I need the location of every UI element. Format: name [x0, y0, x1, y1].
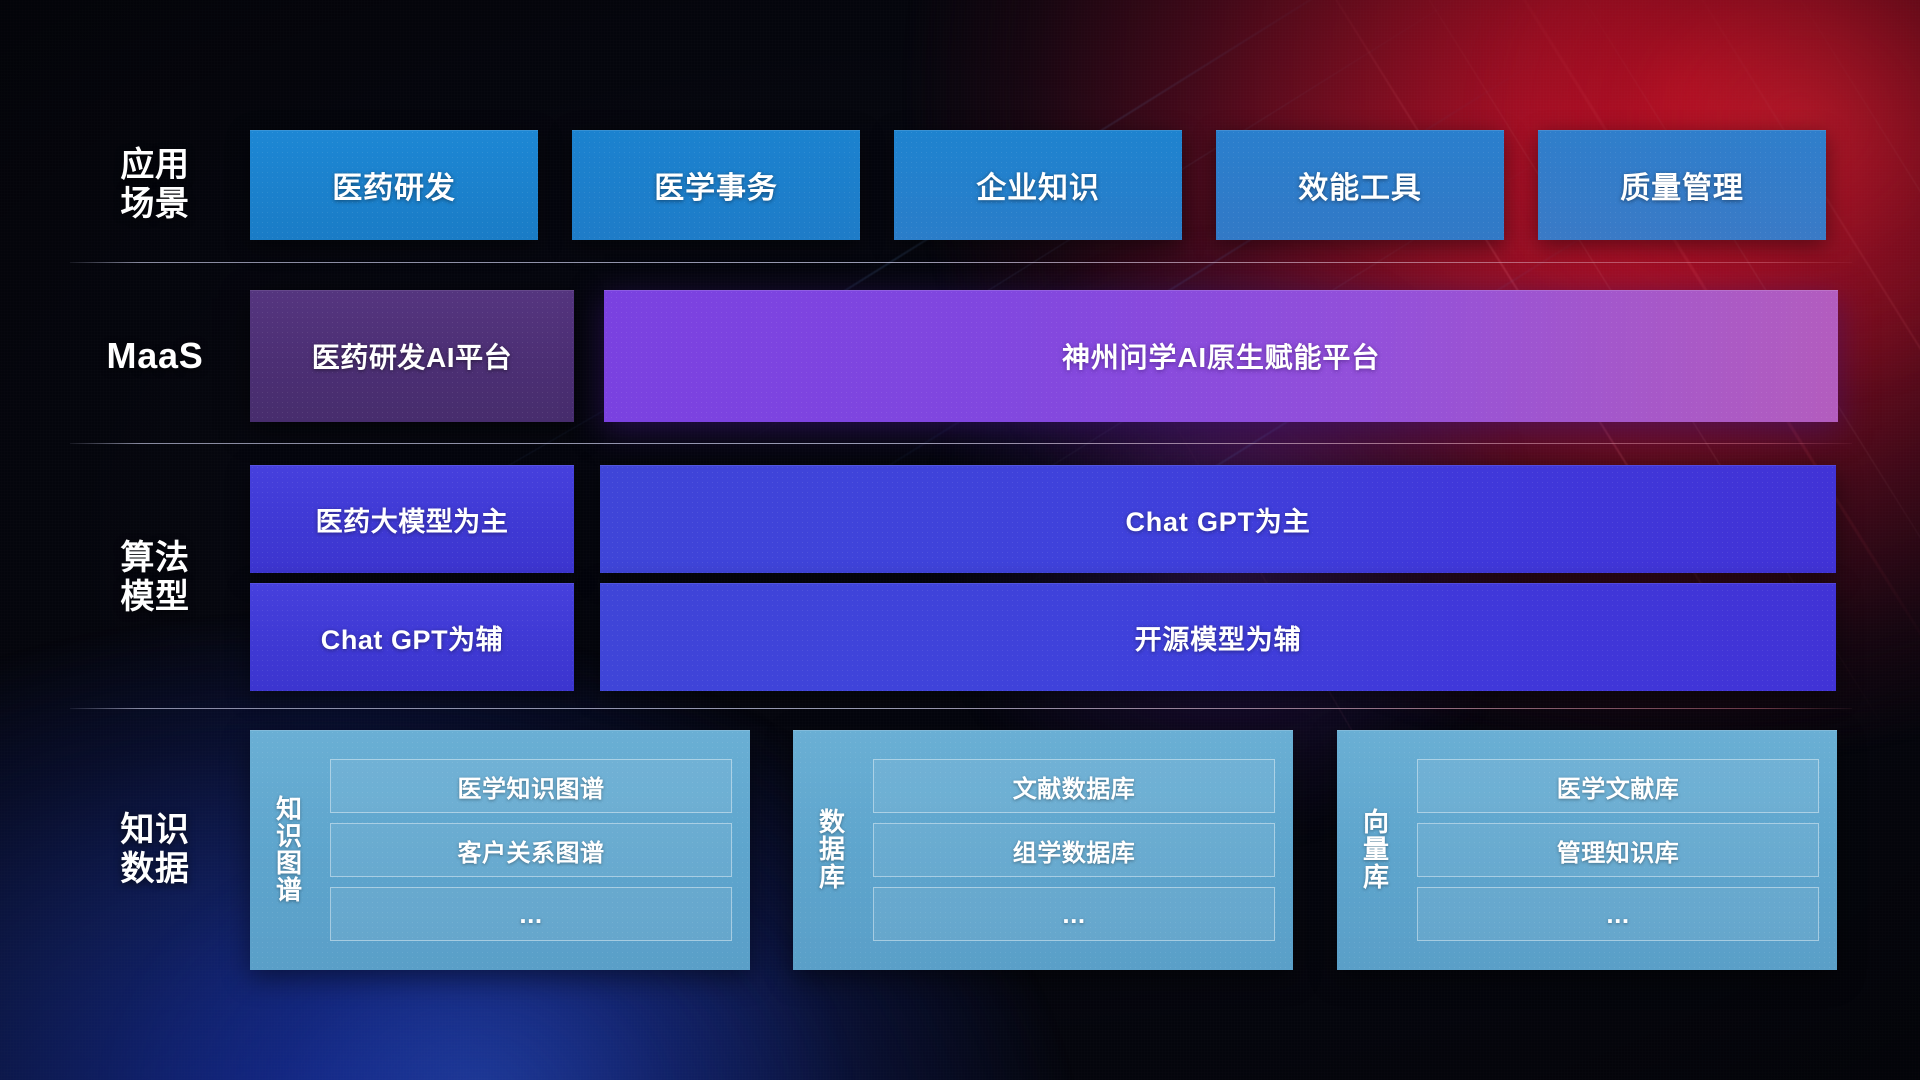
- row-divider-3: [70, 708, 1852, 709]
- row-label-application-line2: 场景: [120, 185, 189, 224]
- app-scenario-card-5[interactable]: 质量管理: [1538, 130, 1826, 240]
- app-scenario-card-1-label: 医药研发: [332, 163, 456, 207]
- row-label-algorithm: 算法 模型: [70, 465, 240, 691]
- knowledge-panel-3-item-3[interactable]: ...: [1417, 887, 1819, 941]
- knowledge-panel-1-item-3-label: ...: [519, 899, 542, 930]
- algorithm-right-card-2-label: 开源模型为辅: [1135, 618, 1302, 657]
- knowledge-panel-2-item-2-label: 组学数据库: [1013, 833, 1135, 868]
- app-scenario-card-4[interactable]: 效能工具: [1216, 130, 1504, 240]
- row-divider-1: [70, 262, 1852, 263]
- row-label-algorithm-line2: 模型: [120, 578, 189, 617]
- knowledge-panel-2-side-label: 数据库: [793, 730, 871, 970]
- maas-left-card[interactable]: 医药研发AI平台: [250, 290, 574, 422]
- app-scenario-card-3-label: 企业知识: [976, 163, 1100, 207]
- app-scenario-card-4-label: 效能工具: [1298, 163, 1422, 207]
- knowledge-panel-1-side-label: 知识图谱: [250, 730, 328, 970]
- knowledge-panel-1-items: 医学知识图谱客户关系图谱...: [328, 745, 750, 955]
- side-label-char: 图: [276, 850, 302, 877]
- app-scenario-card-2[interactable]: 医学事务: [572, 130, 860, 240]
- maas-left-card-label: 医药研发AI平台: [312, 336, 512, 376]
- algorithm-left-card-2-label: Chat GPT为辅: [321, 618, 503, 657]
- app-scenario-card-3[interactable]: 企业知识: [894, 130, 1182, 240]
- knowledge-panel-3-item-2-label: 管理知识库: [1557, 833, 1679, 868]
- maas-right-card-label: 神州问学AI原生赋能平台: [1062, 336, 1380, 376]
- maas-right-card[interactable]: 神州问学AI原生赋能平台: [604, 290, 1838, 422]
- side-label-char: 量: [1363, 836, 1389, 863]
- knowledge-panel-3-side-label-text: 向量库: [1363, 809, 1389, 890]
- knowledge-panel-2-item-1[interactable]: 文献数据库: [873, 759, 1275, 813]
- knowledge-panel-3-item-3-label: ...: [1606, 899, 1629, 930]
- knowledge-panel-1-item-3[interactable]: ...: [330, 887, 732, 941]
- algorithm-left-card-2[interactable]: Chat GPT为辅: [250, 583, 574, 691]
- knowledge-panel-1-item-1-label: 医学知识图谱: [458, 769, 605, 804]
- knowledge-panel-1-side-label-text: 知识图谱: [276, 796, 302, 904]
- knowledge-panel-2-side-label-text: 数据库: [819, 809, 845, 890]
- algorithm-right-card-1[interactable]: Chat GPT为主: [600, 465, 1836, 573]
- row-label-knowledge-line2: 数据: [120, 850, 189, 889]
- architecture-diagram: 应用 场景 医药研发 医学事务 企业知识 效能工具 质量管理 MaaS 医药研发…: [0, 0, 1920, 1080]
- side-label-char: 识: [276, 823, 302, 850]
- algorithm-left-card-1-label: 医药大模型为主: [316, 500, 509, 539]
- app-scenario-card-2-label: 医学事务: [654, 163, 778, 207]
- knowledge-panel-2-item-3[interactable]: ...: [873, 887, 1275, 941]
- knowledge-panel-2-item-2[interactable]: 组学数据库: [873, 823, 1275, 877]
- row-label-application-line1: 应用: [120, 146, 189, 185]
- knowledge-panel-2-items: 文献数据库组学数据库...: [871, 745, 1293, 955]
- algorithm-left-card-1[interactable]: 医药大模型为主: [250, 465, 574, 573]
- side-label-char: 数: [819, 809, 845, 836]
- row-label-maas: MaaS: [70, 290, 240, 422]
- knowledge-panel-3-item-1[interactable]: 医学文献库: [1417, 759, 1819, 813]
- side-label-char: 库: [819, 864, 845, 891]
- knowledge-panel-2[interactable]: 数据库 文献数据库组学数据库...: [793, 730, 1293, 970]
- side-label-char: 据: [819, 836, 845, 863]
- knowledge-panel-1-item-2-label: 客户关系图谱: [458, 833, 605, 868]
- knowledge-panel-3-items: 医学文献库管理知识库...: [1415, 745, 1837, 955]
- algorithm-right-card-2[interactable]: 开源模型为辅: [600, 583, 1836, 691]
- app-scenario-card-5-label: 质量管理: [1620, 163, 1744, 207]
- knowledge-panel-2-item-3-label: ...: [1062, 899, 1085, 930]
- algorithm-right-card-1-label: Chat GPT为主: [1125, 500, 1310, 539]
- knowledge-panel-3-item-1-label: 医学文献库: [1557, 769, 1679, 804]
- side-label-char: 知: [276, 796, 302, 823]
- row-label-algorithm-line1: 算法: [120, 539, 189, 578]
- knowledge-panel-1[interactable]: 知识图谱 医学知识图谱客户关系图谱...: [250, 730, 750, 970]
- app-scenario-card-1[interactable]: 医药研发: [250, 130, 538, 240]
- row-label-application: 应用 场景: [70, 118, 240, 252]
- side-label-char: 谱: [276, 877, 302, 904]
- knowledge-panel-2-item-1-label: 文献数据库: [1013, 769, 1135, 804]
- row-divider-2: [70, 443, 1852, 444]
- side-label-char: 库: [1363, 864, 1389, 891]
- row-label-maas-text: MaaS: [107, 335, 204, 377]
- row-label-knowledge: 知识 数据: [70, 730, 240, 970]
- knowledge-panel-3-side-label: 向量库: [1337, 730, 1415, 970]
- row-label-knowledge-line1: 知识: [120, 811, 189, 850]
- knowledge-panel-1-item-1[interactable]: 医学知识图谱: [330, 759, 732, 813]
- knowledge-panel-1-item-2[interactable]: 客户关系图谱: [330, 823, 732, 877]
- side-label-char: 向: [1363, 809, 1389, 836]
- knowledge-panel-3-item-2[interactable]: 管理知识库: [1417, 823, 1819, 877]
- knowledge-panel-3[interactable]: 向量库 医学文献库管理知识库...: [1337, 730, 1837, 970]
